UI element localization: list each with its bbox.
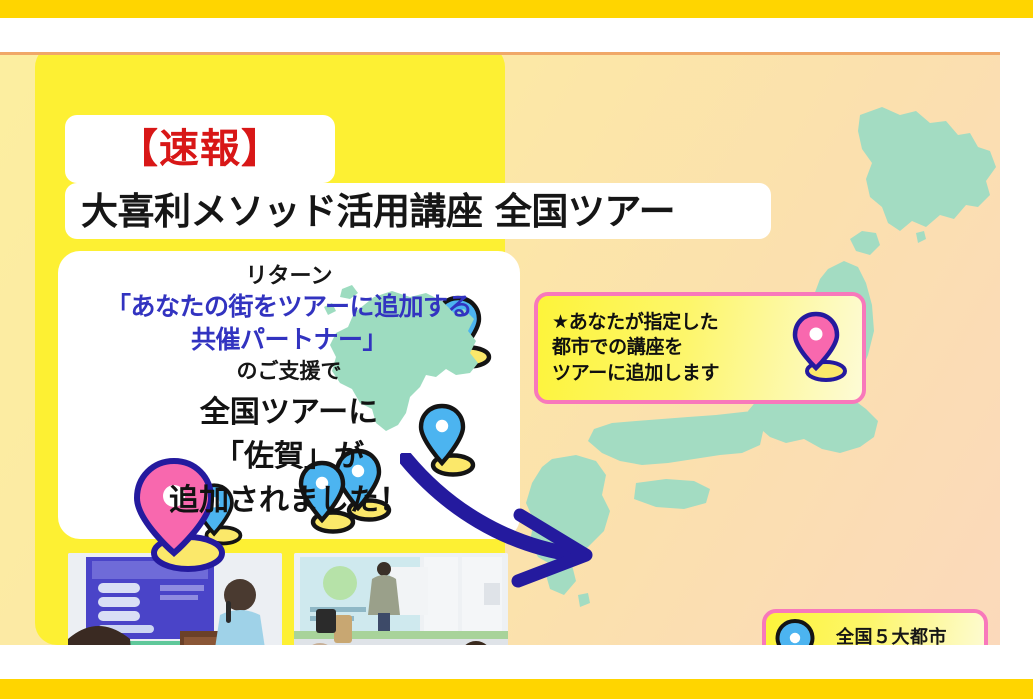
announcement-line3: 追加されました！ [58, 482, 520, 520]
callout-specify-text: ★あなたが指定した 都市での講座を ツアーに追加します [552, 310, 719, 386]
page-title-card: 大喜利メソッド活用講座 全国ツアー [65, 183, 771, 239]
page-title: 大喜利メソッド活用講座 全国ツアー [81, 193, 675, 230]
callout-specify-line3: ツアーに追加します [552, 361, 719, 386]
return-info-card: リターン 「あなたの街をツアーに追加する 共催パートナー」 のご支援で 全国ツア… [58, 251, 520, 539]
callout-specify-city: ★あなたが指定した 都市での講座を ツアーに追加します [534, 292, 866, 404]
callout-legend-line1: 全国５大都市 [836, 625, 947, 645]
poster-body: 【速報】 大喜利メソッド活用講座 全国ツアー リターン 「あなたの街をツアーに追… [0, 52, 1000, 645]
support-label: のご支援で [58, 356, 520, 388]
breaking-news-badge-card: 【速報】 [65, 115, 335, 183]
photo-seminar-audience [294, 553, 508, 645]
callout-specify-line2: 都市での講座を [552, 335, 719, 360]
bottom-accent-bar [0, 679, 1033, 699]
callout-specify-line1: ★あなたが指定した [552, 310, 719, 335]
map-pin-pink-icon [790, 308, 852, 388]
map-pin-blue-icon [774, 617, 828, 645]
callout-tour-legend: 全国５大都市 ツアー予定地 [762, 609, 988, 645]
top-accent-bar [0, 0, 1033, 18]
return-title-line2: 共催パートナー」 [58, 324, 520, 357]
announcement-line2: 「佐賀」が [58, 438, 520, 476]
callout-legend-text: 全国５大都市 ツアー予定地 [836, 625, 947, 645]
return-title-line1: 「あなたの街をツアーに追加する [58, 291, 520, 324]
announcement-line1: 全国ツアーに [58, 394, 520, 432]
return-label: リターン [58, 263, 520, 291]
breaking-news-badge-text: 【速報】 [118, 129, 282, 169]
return-info-text: リターン 「あなたの街をツアーに追加する 共催パートナー」 のご支援で 全国ツア… [58, 251, 520, 521]
